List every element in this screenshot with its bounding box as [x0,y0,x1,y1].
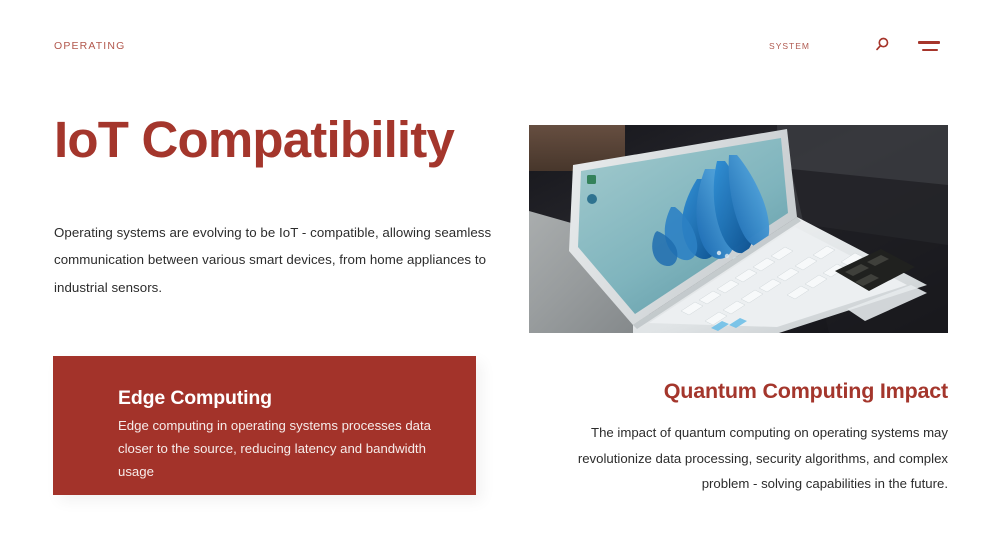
brand-label[interactable]: OPERATING [54,41,125,52]
hamburger-line-top [918,41,940,43]
hamburger-menu-icon[interactable] [918,39,940,53]
site-header: OPERATING SYSTEM [0,0,993,92]
hamburger-line-bottom [922,49,938,51]
search-icon[interactable] [872,35,892,55]
edge-card-title: Edge Computing [118,386,440,410]
slide-page: OPERATING SYSTEM IoT Compatibility Opera… [0,0,993,558]
quantum-section-title: Quantum Computing Impact [529,378,948,406]
left-column: IoT Compatibility Operating systems are … [54,112,504,167]
edge-computing-card[interactable]: Edge Computing Edge computing in operati… [53,356,476,495]
header-right-group: SYSTEM [769,36,940,56]
right-column: Quantum Computing Impact The impact of q… [529,125,948,333]
hero-paragraph: Operating systems are evolving to be IoT… [54,219,499,301]
page-title: IoT Compatibility [54,112,504,167]
edge-card-text: Edge computing in operating systems proc… [118,415,440,483]
laptop-photo [529,125,948,333]
nav-item-system[interactable]: SYSTEM [769,42,810,51]
quantum-section-text: The impact of quantum computing on opera… [529,420,948,497]
